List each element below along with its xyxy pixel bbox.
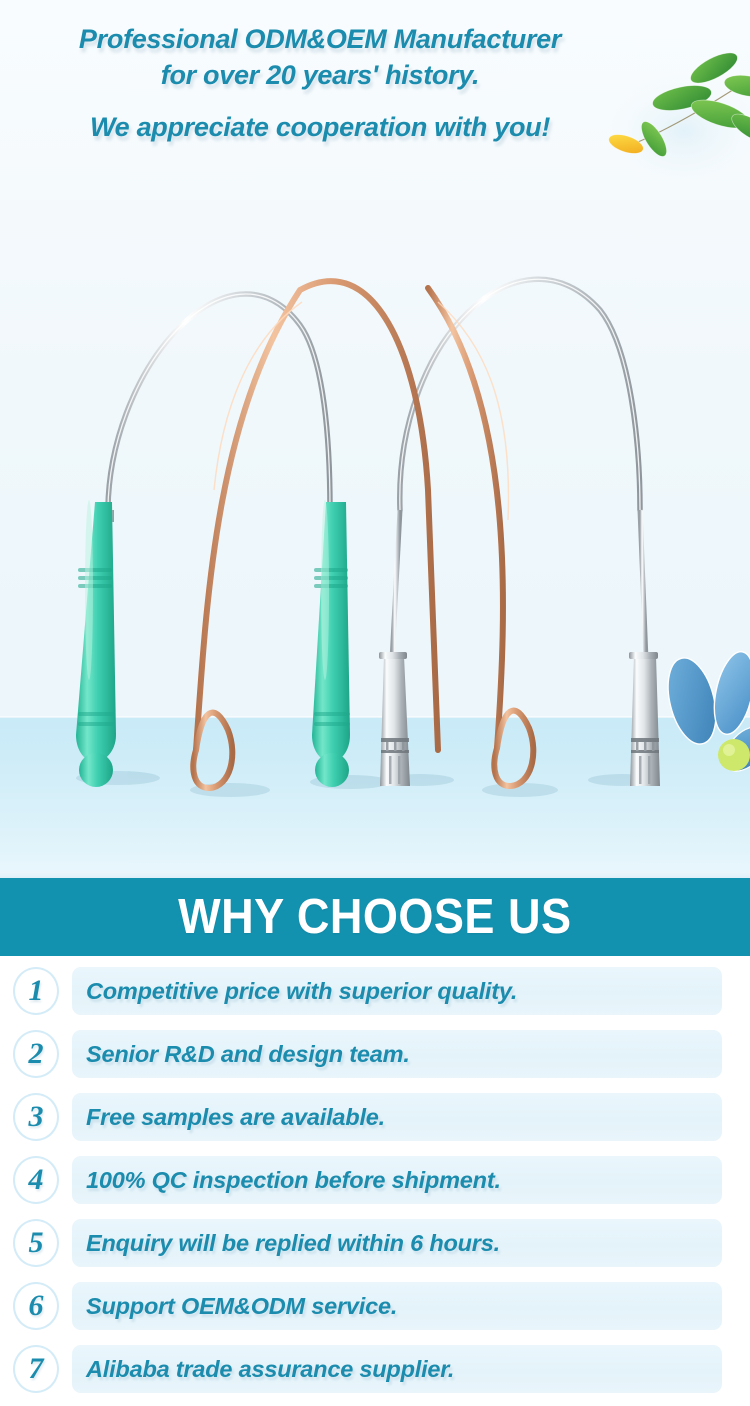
tongue-scraper-green-handle-right xyxy=(312,500,350,787)
product-group-tongue-scrapers xyxy=(0,190,750,810)
reason-text: Competitive price with superior quality. xyxy=(72,978,517,1005)
reason-number-badge: 5 xyxy=(0,1214,72,1272)
reason-number-badge: 2 xyxy=(0,1025,72,1083)
reason-number-badge: 7 xyxy=(0,1340,72,1398)
reason-text: Enquiry will be replied within 6 hours. xyxy=(72,1230,500,1257)
list-item: 3 Free samples are available. xyxy=(0,1088,750,1146)
list-item: 1 Competitive price with superior qualit… xyxy=(0,962,750,1020)
reason-number: 4 xyxy=(29,1165,44,1195)
number-circle-icon: 6 xyxy=(13,1282,59,1330)
reason-pill: Alibaba trade assurance supplier. xyxy=(72,1345,722,1393)
leaf-branch-icon xyxy=(596,46,750,186)
reason-text: Free samples are available. xyxy=(72,1104,385,1131)
product-marketing-page: Professional ODM&OEM Manufacturer for ov… xyxy=(0,0,750,1406)
number-circle-icon: 5 xyxy=(13,1219,59,1267)
banner-title: WHY CHOOSE US xyxy=(178,889,571,945)
reason-text: Senior R&D and design team. xyxy=(72,1041,410,1068)
number-circle-icon: 4 xyxy=(13,1156,59,1204)
number-circle-icon: 3 xyxy=(13,1093,59,1141)
reason-pill: Support OEM&ODM service. xyxy=(72,1282,722,1330)
number-circle-icon: 7 xyxy=(13,1345,59,1393)
tongue-scraper-green-handle-left xyxy=(76,294,330,787)
list-item: 4 100% QC inspection before shipment. xyxy=(0,1151,750,1209)
hero-section: Professional ODM&OEM Manufacturer for ov… xyxy=(0,0,750,878)
reason-number: 7 xyxy=(29,1354,44,1384)
list-item: 7 Alibaba trade assurance supplier. xyxy=(0,1340,750,1398)
reason-pill: Senior R&D and design team. xyxy=(72,1030,722,1078)
reason-number-badge: 4 xyxy=(0,1151,72,1209)
reasons-list: 1 Competitive price with superior qualit… xyxy=(0,962,750,1406)
reason-number: 2 xyxy=(29,1039,44,1069)
reason-number: 3 xyxy=(29,1102,44,1132)
reason-number: 1 xyxy=(29,976,44,1006)
reason-text: 100% QC inspection before shipment. xyxy=(72,1167,501,1194)
reason-text: Support OEM&ODM service. xyxy=(72,1293,397,1320)
page-headline: Professional ODM&OEM Manufacturer for ov… xyxy=(0,22,640,93)
reason-number-badge: 6 xyxy=(0,1277,72,1335)
reason-number-badge: 3 xyxy=(0,1088,72,1146)
list-item: 2 Senior R&D and design team. xyxy=(0,1025,750,1083)
reason-pill: Free samples are available. xyxy=(72,1093,722,1141)
list-item: 5 Enquiry will be replied within 6 hours… xyxy=(0,1214,750,1272)
reason-pill: Competitive price with superior quality. xyxy=(72,967,722,1015)
reason-pill: Enquiry will be replied within 6 hours. xyxy=(72,1219,722,1267)
reason-number-badge: 1 xyxy=(0,962,72,1020)
list-item: 6 Support OEM&ODM service. xyxy=(0,1277,750,1335)
number-circle-icon: 2 xyxy=(13,1030,59,1078)
reason-number: 5 xyxy=(29,1228,44,1258)
headline-line-2: for over 20 years' history. xyxy=(0,58,640,94)
why-choose-us-banner: WHY CHOOSE US xyxy=(0,878,750,956)
reason-number: 6 xyxy=(29,1291,44,1321)
reason-pill: 100% QC inspection before shipment. xyxy=(72,1156,722,1204)
page-subline: We appreciate cooperation with you! xyxy=(0,112,640,143)
headline-line-1: Professional ODM&OEM Manufacturer xyxy=(0,22,640,58)
reason-text: Alibaba trade assurance supplier. xyxy=(72,1356,454,1383)
blue-flower-icon xyxy=(650,645,750,785)
number-circle-icon: 1 xyxy=(13,967,59,1015)
